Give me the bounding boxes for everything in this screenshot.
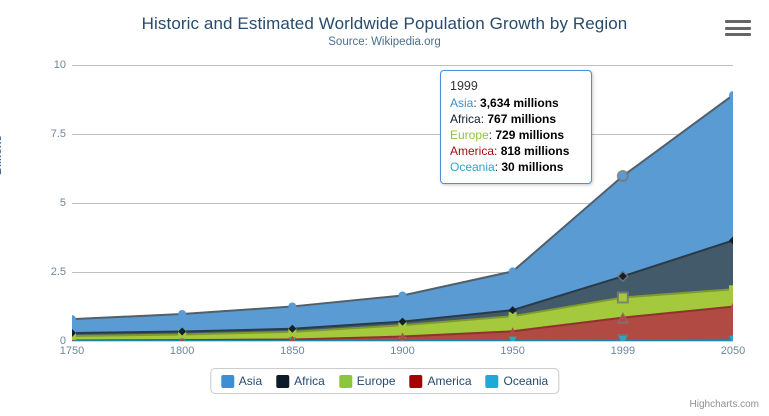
tooltip-row: Asia: 3,634 millions [450, 95, 582, 111]
tooltip-series-name: America [450, 144, 494, 158]
x-axis-tick-label: 1999 [611, 345, 635, 357]
legend-item-africa[interactable]: Africa [276, 374, 325, 388]
tooltip-series-value: 3,634 millions [480, 96, 559, 110]
x-axis-tick-label: 1900 [390, 345, 414, 357]
tooltip-series-value: 818 millions [501, 144, 570, 158]
tooltip-rows: Asia: 3,634 millionsAfrica: 767 millions… [450, 95, 582, 175]
chart-canvas [72, 65, 733, 341]
menu-bar-2 [725, 27, 751, 30]
tooltip-row: America: 818 millions [450, 143, 582, 159]
tooltip-separator: : [494, 144, 501, 158]
tooltip-series-name: Oceania [450, 160, 495, 174]
chart-subtitle: Source: Wikipedia.org [0, 36, 769, 48]
legend-item-label: Oceania [504, 374, 549, 388]
data-point-asia-1950[interactable] [509, 267, 517, 275]
y-axis-title: Billions [0, 135, 4, 175]
legend-item-europe[interactable]: Europe [339, 374, 396, 388]
legend-swatch-icon [410, 375, 423, 388]
tooltip-row: Oceania: 30 millions [450, 159, 582, 175]
legend-item-asia[interactable]: Asia [221, 374, 262, 388]
x-axis-ticks: 1750180018501900195019992050 [72, 345, 733, 363]
tooltip-series-name: Africa [450, 112, 481, 126]
data-point-asia-1900[interactable] [399, 291, 407, 299]
y-axis-tick-label: 5 [14, 197, 66, 209]
tooltip: 1999 Asia: 3,634 millionsAfrica: 767 mil… [440, 70, 592, 184]
x-axis-tick-label: 1800 [170, 345, 194, 357]
legend-item-label: America [428, 374, 472, 388]
data-point-asia-1800[interactable] [178, 310, 186, 318]
data-point-asia-1850[interactable] [288, 302, 296, 310]
x-axis-tick-label: 2050 [721, 345, 745, 357]
legend-swatch-icon [486, 375, 499, 388]
x-axis-tick-label: 1750 [60, 345, 84, 357]
legend-swatch-icon [221, 375, 234, 388]
hamburger-menu-icon[interactable] [725, 18, 751, 38]
y-axis-tick-label: 0 [14, 335, 66, 347]
x-axis-tick-label: 1950 [500, 345, 524, 357]
legend: AsiaAfricaEuropeAmericaOceania [210, 368, 559, 394]
highcharts-container: Historic and Estimated Worldwide Populat… [0, 0, 769, 416]
tooltip-series-value: 729 millions [495, 128, 564, 142]
tooltip-series-name: Asia [450, 96, 473, 110]
legend-item-label: Africa [294, 374, 325, 388]
tooltip-series-name: Europe [450, 128, 489, 142]
tooltip-header: 1999 [450, 78, 582, 95]
menu-bar-3 [725, 33, 751, 36]
legend-item-label: Europe [357, 374, 396, 388]
y-axis-tick-label: 7.5 [14, 128, 66, 140]
y-axis-tick-label: 2.5 [14, 266, 66, 278]
data-point-asia-1999[interactable] [619, 172, 627, 180]
tooltip-row: Europe: 729 millions [450, 127, 582, 143]
gridline [72, 341, 733, 342]
tooltip-series-value: 767 millions [487, 112, 556, 126]
x-axis-tick-label: 1850 [280, 345, 304, 357]
y-axis-ticks: 02.557.510 [10, 65, 66, 341]
y-axis-tick-label: 10 [14, 59, 66, 71]
legend-swatch-icon [276, 375, 289, 388]
plot-area [72, 65, 733, 341]
menu-bar-1 [725, 20, 751, 23]
chart-title: Historic and Estimated Worldwide Populat… [0, 14, 769, 34]
legend-swatch-icon [339, 375, 352, 388]
tooltip-separator: : [473, 96, 480, 110]
data-point-europe-2050[interactable] [729, 285, 733, 293]
data-point-europe-1999[interactable] [619, 293, 627, 301]
tooltip-row: Africa: 767 millions [450, 111, 582, 127]
credits-label[interactable]: Highcharts.com [690, 399, 759, 410]
legend-item-label: Asia [239, 374, 262, 388]
tooltip-series-value: 30 millions [501, 160, 563, 174]
legend-item-oceania[interactable]: Oceania [486, 374, 549, 388]
legend-item-america[interactable]: America [410, 374, 472, 388]
